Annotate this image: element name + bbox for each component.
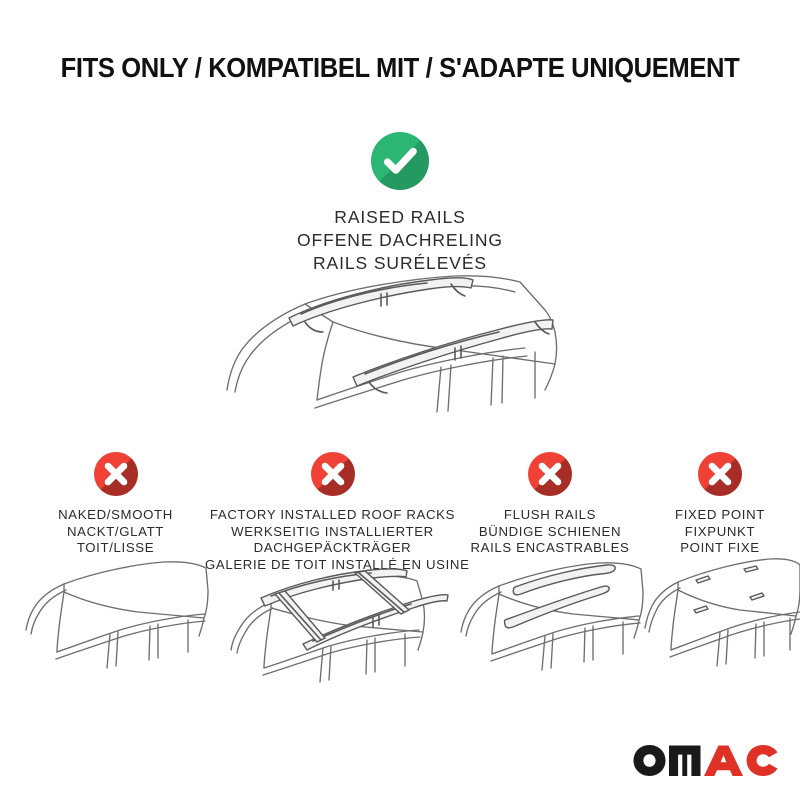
item-labels: FLUSH RAILS BÜNDIGE SCHIENEN RAILS ENCAS… — [455, 507, 645, 557]
item-labels: NAKED/SMOOTH NACKT/GLATT TOIT/LISSE — [18, 507, 213, 557]
incompatible-item-flush-rails: FLUSH RAILS BÜNDIGE SCHIENEN RAILS ENCAS… — [455, 452, 645, 557]
incompatible-section: NAKED/SMOOTH NACKT/GLATT TOIT/LISSE — [0, 452, 800, 722]
incompatible-item-fixed-point: FIXED POINT FIXPUNKT POINT FIXE — [640, 452, 800, 557]
item-label-de-1: WERKSEITIG INSTALLIERTER — [205, 524, 460, 541]
flush-rails-illustration — [455, 556, 645, 701]
item-label-en: FLUSH RAILS — [455, 507, 645, 524]
raised-rails-illustration — [205, 272, 605, 447]
incompatible-item-factory-roof-racks: FACTORY INSTALLED ROOF RACKS WERKSEITIG … — [205, 452, 460, 574]
page-title: FITS ONLY / KOMPATIBEL MIT / S'ADAPTE UN… — [28, 52, 772, 84]
item-label-en: FACTORY INSTALLED ROOF RACKS — [205, 507, 460, 524]
item-label-fr: RAILS ENCASTRABLES — [455, 540, 645, 557]
factory-roof-racks-illustration — [205, 550, 460, 700]
item-label-de: NACKT/GLATT — [18, 524, 213, 541]
compatible-section: RAISED RAILS OFFENE DACHRELING RAILS SUR… — [0, 132, 800, 275]
item-label-de: BÜNDIGE SCHIENEN — [455, 524, 645, 541]
x-circle-icon — [698, 452, 742, 496]
omac-logo — [633, 742, 778, 778]
item-label-en: NAKED/SMOOTH — [18, 507, 213, 524]
x-circle-icon — [94, 452, 138, 496]
x-circle-icon — [528, 452, 572, 496]
item-label-fr: TOIT/LISSE — [18, 540, 213, 557]
fixed-point-illustration — [640, 552, 800, 697]
item-labels: FIXED POINT FIXPUNKT POINT FIXE — [640, 507, 800, 557]
compatible-label-de: OFFENE DACHRELING — [0, 229, 800, 252]
x-circle-icon — [311, 452, 355, 496]
compatible-label-en: RAISED RAILS — [0, 206, 800, 229]
item-label-de: FIXPUNKT — [640, 524, 800, 541]
incompatible-item-naked-smooth: NAKED/SMOOTH NACKT/GLATT TOIT/LISSE — [18, 452, 213, 557]
naked-smooth-illustration — [18, 556, 213, 696]
check-circle-icon — [371, 132, 429, 190]
compatible-labels: RAISED RAILS OFFENE DACHRELING RAILS SUR… — [0, 206, 800, 275]
item-label-en: FIXED POINT — [640, 507, 800, 524]
